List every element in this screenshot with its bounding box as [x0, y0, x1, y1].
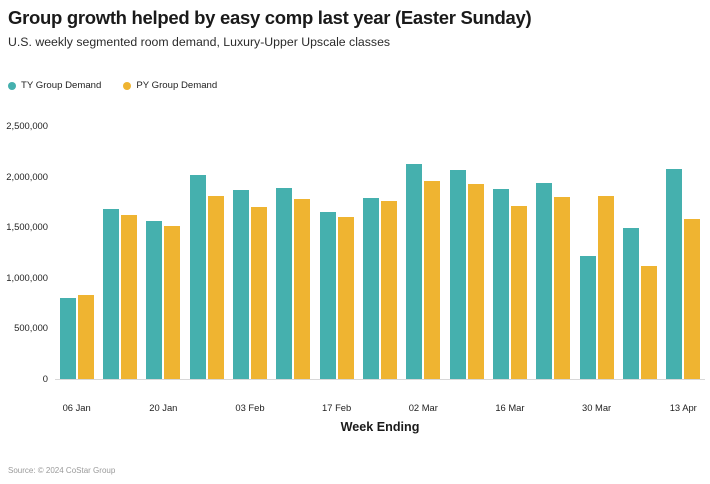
bar-ty-group-demand[interactable]: [233, 190, 249, 379]
bar-group: [662, 126, 705, 379]
bar-group: [272, 126, 315, 379]
legend-item[interactable]: TY Group Demand: [8, 80, 101, 91]
bar-ty-group-demand[interactable]: [666, 169, 682, 379]
bar-py-group-demand[interactable]: [251, 207, 267, 379]
bar-py-group-demand[interactable]: [684, 219, 700, 379]
plot-area: 0500,0001,000,0001,500,0002,000,0002,500…: [0, 112, 710, 402]
legend-item-label: TY Group Demand: [21, 80, 101, 91]
bar-py-group-demand[interactable]: [554, 197, 570, 379]
bar-ty-group-demand[interactable]: [103, 209, 119, 379]
source-note: Source: © 2024 CoStar Group: [8, 466, 115, 476]
bar-group: [185, 126, 228, 379]
bar-ty-group-demand[interactable]: [623, 228, 639, 379]
bar-group: [402, 126, 445, 379]
y-axis-tick-label: 1,000,000: [6, 273, 48, 283]
bar-py-group-demand[interactable]: [164, 226, 180, 379]
bar-ty-group-demand[interactable]: [146, 221, 162, 379]
bar-py-group-demand[interactable]: [78, 295, 94, 379]
bar-group: [445, 126, 488, 379]
bar-py-group-demand[interactable]: [121, 215, 137, 379]
plot-canvas: [55, 112, 705, 402]
bar-py-group-demand[interactable]: [598, 196, 614, 379]
chart-header: Group growth helped by easy comp last ye…: [8, 6, 702, 51]
bar-ty-group-demand[interactable]: [363, 198, 379, 379]
legend-item[interactable]: PY Group Demand: [123, 80, 217, 91]
bar-group: [532, 126, 575, 379]
bar-ty-group-demand[interactable]: [320, 212, 336, 379]
bar-py-group-demand[interactable]: [424, 181, 440, 379]
bar-py-group-demand[interactable]: [208, 196, 224, 379]
y-axis-tick-label: 500,000: [14, 323, 48, 333]
bar-ty-group-demand[interactable]: [580, 256, 596, 379]
bar-py-group-demand[interactable]: [338, 217, 354, 379]
x-axis-title: Week Ending: [55, 420, 705, 434]
bar-ty-group-demand[interactable]: [536, 183, 552, 379]
chart-title: Group growth helped by easy comp last ye…: [8, 6, 702, 30]
bar-py-group-demand[interactable]: [511, 206, 527, 379]
bar-group: [488, 126, 531, 379]
bar-py-group-demand[interactable]: [294, 199, 310, 379]
bar-group: [55, 126, 98, 379]
bar-group: [228, 126, 271, 379]
y-axis-tick-label: 0: [43, 374, 48, 384]
y-axis: 0500,0001,000,0001,500,0002,000,0002,500…: [0, 112, 55, 402]
bar-ty-group-demand[interactable]: [450, 170, 466, 379]
bar-group: [315, 126, 358, 379]
bar-group: [575, 126, 618, 379]
y-axis-tick-label: 2,500,000: [6, 121, 48, 131]
bar-group: [142, 126, 185, 379]
axis-baseline: [55, 379, 705, 380]
bar-group: [358, 126, 401, 379]
bar-ty-group-demand[interactable]: [493, 189, 509, 379]
bar-group: [618, 126, 661, 379]
bar-ty-group-demand[interactable]: [276, 188, 292, 379]
bar-py-group-demand[interactable]: [468, 184, 484, 379]
bar-ty-group-demand[interactable]: [60, 298, 76, 379]
legend-item-label: PY Group Demand: [136, 80, 217, 91]
chart-legend: TY Group DemandPY Group Demand: [8, 80, 217, 91]
bar-ty-group-demand[interactable]: [406, 164, 422, 379]
bar-py-group-demand[interactable]: [641, 266, 657, 379]
chart-page: Group growth helped by easy comp last ye…: [0, 0, 710, 484]
bar-py-group-demand[interactable]: [381, 201, 397, 379]
circle-marker-icon: [8, 82, 16, 90]
chart-subtitle: U.S. weekly segmented room demand, Luxur…: [8, 33, 702, 51]
y-axis-tick-label: 1,500,000: [6, 222, 48, 232]
bar-groups: [55, 126, 705, 379]
bar-ty-group-demand[interactable]: [190, 175, 206, 379]
circle-marker-icon: [123, 82, 131, 90]
y-axis-tick-label: 2,000,000: [6, 172, 48, 182]
bar-group: [98, 126, 141, 379]
